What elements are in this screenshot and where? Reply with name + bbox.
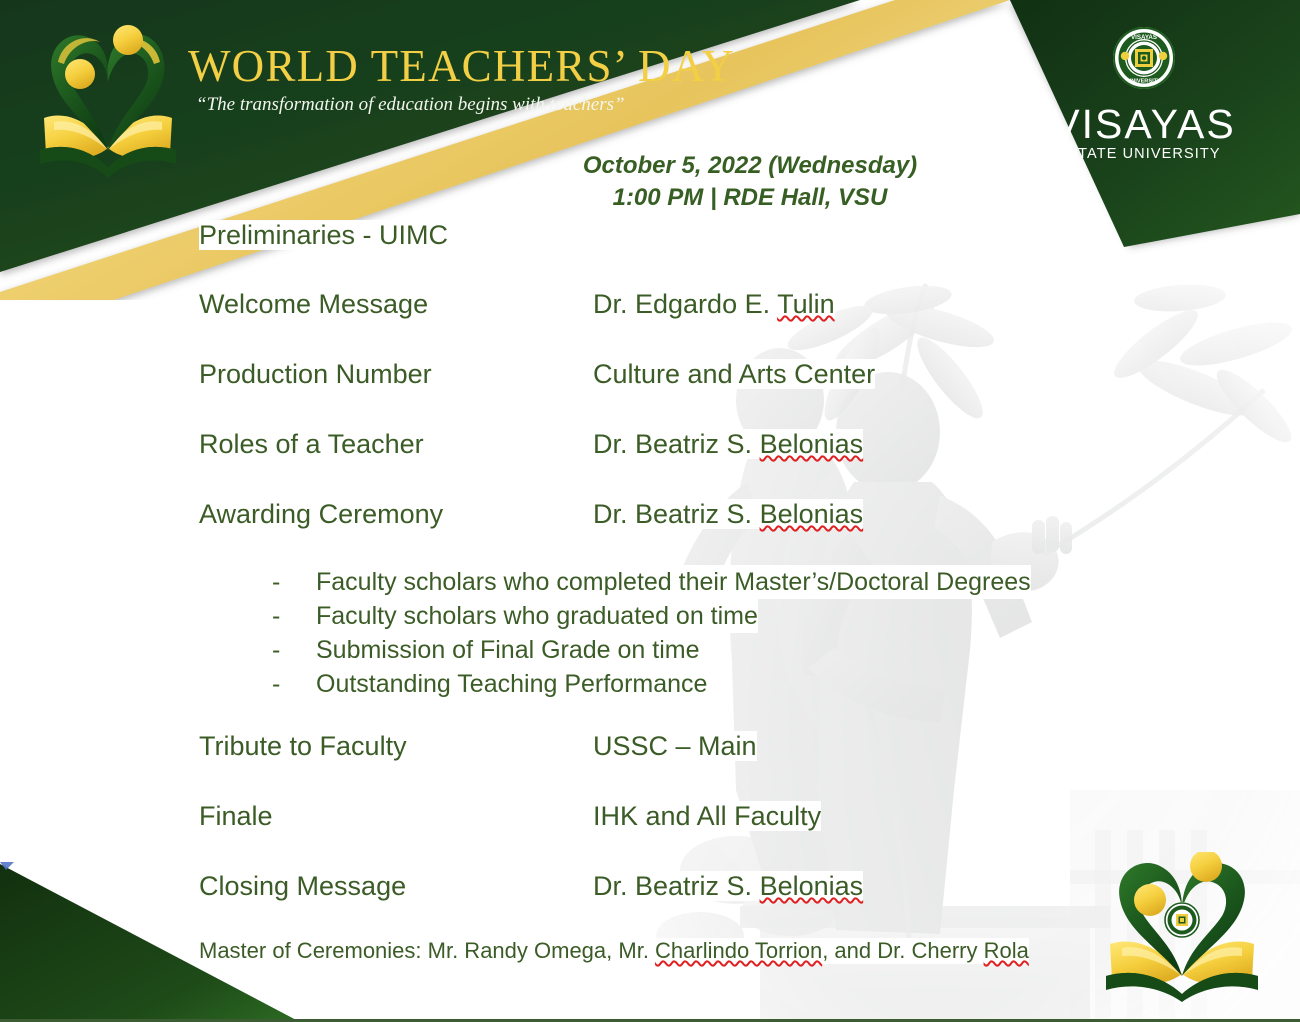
program-item-title: Finale	[199, 801, 593, 831]
vsu-name: VISAYAS	[1046, 104, 1242, 145]
event-date: October 5, 2022 (Wednesday)	[400, 150, 1100, 182]
awards-bullet-list: - Faculty scholars who completed their M…	[0, 565, 1300, 701]
program-item-person: Dr. Beatriz S. Belonias	[593, 871, 863, 901]
program-row: Production Number Culture and Arts Cente…	[0, 359, 1300, 429]
misspelled-word: Belonias	[760, 871, 864, 901]
program-item-person: Dr. Beatriz S. Belonias	[593, 429, 863, 459]
vsu-seal-icon	[1164, 902, 1200, 938]
list-item: - Faculty scholars who completed their M…	[272, 565, 1300, 599]
list-item-text: Faculty scholars who completed their Mas…	[316, 565, 1031, 599]
program-row: Awarding Ceremony Dr. Beatriz S. Belonia…	[0, 499, 1300, 569]
program-item-person: Dr. Beatriz S. Belonias	[593, 499, 863, 529]
program-item-title: Welcome Message	[199, 289, 593, 319]
program-row: Preliminaries - UIMC	[0, 220, 1300, 289]
program-item-person: Dr. Edgardo E. Tulin	[593, 289, 835, 319]
wtd-wordmark: WORLD TEACHERS’ DAY “The transformation …	[188, 44, 735, 116]
list-item-text: Faculty scholars who graduated on time	[316, 599, 758, 633]
misspelled-word: Belonias	[760, 499, 864, 529]
program-item-title: Closing Message	[199, 871, 593, 901]
bullet-marker: -	[272, 667, 316, 701]
heart-book-logo-icon	[1096, 852, 1268, 1004]
misspelled-word: Charlindo Torrion	[655, 938, 822, 963]
program-item-person: Culture and Arts Center	[593, 359, 875, 389]
vsu-branding: VISAYAS UNIVERSITY VISAYAS STATE UNIVERS…	[1046, 26, 1242, 162]
program-item-title: Tribute to Faculty	[199, 731, 593, 761]
program-item-title: Awarding Ceremony	[199, 499, 593, 529]
misspelled-word: Tulin	[777, 289, 835, 319]
wtd-tagline: “The transformation of education begins …	[196, 94, 735, 116]
program-list: Preliminaries - UIMC Welcome Message Dr.…	[0, 220, 1300, 941]
svg-text:VISAYAS: VISAYAS	[1131, 34, 1157, 41]
program-row: Roles of a Teacher Dr. Beatriz S. Beloni…	[0, 429, 1300, 499]
heart-book-logo-icon	[32, 18, 184, 183]
master-of-ceremonies: Master of Ceremonies: Mr. Randy Omega, M…	[199, 938, 1029, 964]
program-item-title: Roles of a Teacher	[199, 429, 593, 459]
list-item: - Outstanding Teaching Performance	[272, 667, 1300, 701]
mc-label: Master of Ceremonies:	[199, 938, 422, 963]
vsu-seal-icon: VISAYAS UNIVERSITY	[1112, 26, 1176, 90]
list-item-text: Submission of Final Grade on time	[316, 633, 700, 667]
svg-text:UNIVERSITY: UNIVERSITY	[1127, 79, 1161, 85]
program-item-title: Preliminaries - UIMC	[199, 220, 593, 250]
event-time-venue: 1:00 PM | RDE Hall, VSU	[400, 182, 1100, 214]
misspelled-word: Belonias	[760, 429, 864, 459]
event-datetime: October 5, 2022 (Wednesday) 1:00 PM | RD…	[400, 150, 1100, 213]
bullet-marker: -	[272, 565, 316, 599]
bullet-marker: -	[272, 599, 316, 633]
poster-canvas: WORLD TEACHERS’ DAY “The transformation …	[0, 0, 1300, 1022]
program-row: Welcome Message Dr. Edgardo E. Tulin	[0, 289, 1300, 359]
bullet-marker: -	[272, 633, 316, 667]
program-item-person: IHK and All Faculty	[593, 801, 821, 831]
wtd-title: WORLD TEACHERS’ DAY	[188, 44, 735, 89]
program-item-person: USSC – Main	[593, 731, 757, 761]
list-item: - Submission of Final Grade on time	[272, 633, 1300, 667]
list-item-text: Outstanding Teaching Performance	[316, 667, 707, 701]
misspelled-word: Rola	[984, 938, 1029, 963]
footer-world-teachers-day-logo	[1096, 852, 1268, 1004]
list-item: - Faculty scholars who graduated on time	[272, 599, 1300, 633]
program-row: Tribute to Faculty USSC – Main	[0, 731, 1300, 801]
program-item-title: Production Number	[199, 359, 593, 389]
world-teachers-day-logo	[32, 18, 184, 183]
